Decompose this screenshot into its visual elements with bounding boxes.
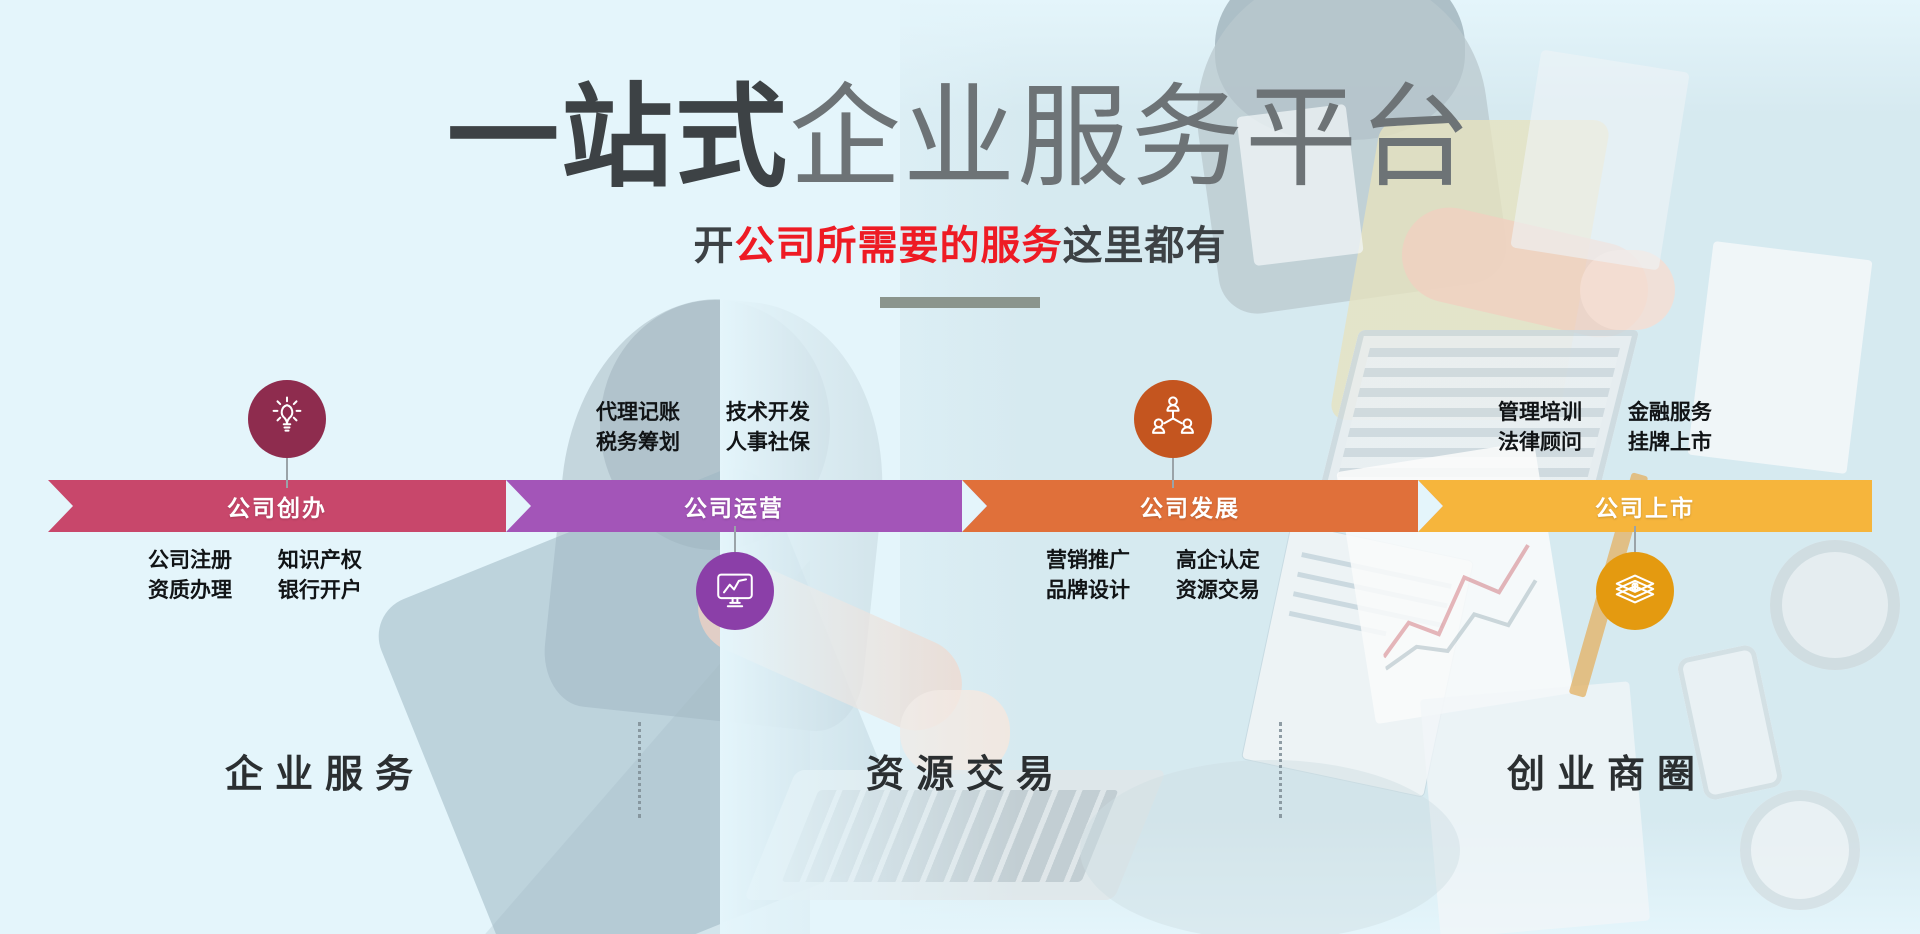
stage-icon-bubble-4[interactable] xyxy=(1596,552,1674,630)
service-label: 金融服务 xyxy=(1628,398,1712,428)
service-column: 公司注册 资质办理 xyxy=(148,546,232,606)
service-label: 营销推广 xyxy=(1046,546,1130,576)
title-bold-part: 一站式 xyxy=(447,75,789,200)
category-resource-trading[interactable]: 资源交易 xyxy=(641,743,1279,798)
service-column: 代理记账 税务筹划 xyxy=(596,398,680,458)
arrow-notch-2 xyxy=(506,480,531,532)
service-label: 知识产权 xyxy=(278,546,362,576)
service-labels-stage-4: 管理培训 法律顾问 金融服务 挂牌上市 xyxy=(1498,398,1712,458)
stem-stage-3 xyxy=(1172,458,1174,488)
stage-segment-4[interactable]: 公司上市 xyxy=(1418,480,1872,532)
lightbulb-icon xyxy=(264,394,310,445)
stage-segment-1[interactable]: 公司创办 xyxy=(48,480,506,532)
service-label: 资质办理 xyxy=(148,576,232,606)
stage-label-4: 公司上市 xyxy=(1595,489,1695,523)
stem-stage-4 xyxy=(1634,526,1636,552)
people-network-icon xyxy=(1150,394,1196,445)
service-column: 金融服务 挂牌上市 xyxy=(1628,398,1712,458)
service-column: 高企认定 资源交易 xyxy=(1176,546,1260,606)
stage-icon-bubble-1[interactable] xyxy=(248,380,326,458)
service-labels-stage-3: 营销推广 品牌设计 高企认定 资源交易 xyxy=(1046,546,1260,606)
category-divider xyxy=(638,722,641,818)
page-title: 一站式企业服务平台 xyxy=(0,78,1920,199)
money-stack-icon xyxy=(1612,566,1658,617)
service-label: 技术开发 xyxy=(726,398,810,428)
stage-icon-bubble-2[interactable] xyxy=(696,552,774,630)
stage-segment-2[interactable]: 公司运营 xyxy=(506,480,962,532)
arrow-notch-4 xyxy=(1418,480,1443,532)
banner-header: 一站式企业服务平台 开公司所需要的服务这里都有 xyxy=(0,0,1920,308)
service-column: 管理培训 法律顾问 xyxy=(1498,398,1582,458)
service-label: 资源交易 xyxy=(1176,576,1260,606)
stem-stage-1 xyxy=(286,458,288,488)
service-column: 营销推广 品牌设计 xyxy=(1046,546,1130,606)
subtitle-suffix: 这里都有 xyxy=(1063,224,1227,268)
service-labels-stage-1: 公司注册 资质办理 知识产权 银行开户 xyxy=(148,546,362,606)
page-subtitle: 开公司所需要的服务这里都有 xyxy=(0,213,1920,271)
service-label: 公司注册 xyxy=(148,546,232,576)
category-divider xyxy=(1279,722,1282,818)
category-startup-circle[interactable]: 创业商圈 xyxy=(1282,743,1920,798)
stage-label-2: 公司运营 xyxy=(684,489,784,523)
service-label: 管理培训 xyxy=(1498,398,1582,428)
subtitle-prefix: 开 xyxy=(694,224,735,268)
category-enterprise-service[interactable]: 企业服务 xyxy=(0,743,638,798)
service-label: 代理记账 xyxy=(596,398,680,428)
monitor-chart-icon xyxy=(712,566,758,617)
service-label: 法律顾问 xyxy=(1498,428,1582,458)
service-label: 银行开户 xyxy=(278,576,362,606)
service-label: 人事社保 xyxy=(726,428,810,458)
stage-segment-3[interactable]: 公司发展 xyxy=(962,480,1418,532)
stem-stage-2 xyxy=(734,526,736,552)
category-row: 企业服务 资源交易 创业商圈 xyxy=(0,700,1920,840)
service-column: 知识产权 银行开户 xyxy=(278,546,362,606)
stage-icon-bubble-3[interactable] xyxy=(1134,380,1212,458)
stage-label-3: 公司发展 xyxy=(1140,489,1240,523)
arrow-notch-3 xyxy=(962,480,987,532)
service-timeline: 公司创办 公司运营 公司发展 公司上市 xyxy=(0,380,1920,680)
title-underline-rule xyxy=(880,297,1040,308)
subtitle-highlight: 公司所需要的服务 xyxy=(735,224,1063,268)
service-label: 挂牌上市 xyxy=(1628,428,1712,458)
stage-arrow-band: 公司创办 公司运营 公司发展 公司上市 xyxy=(48,480,1872,532)
service-column: 技术开发 人事社保 xyxy=(726,398,810,458)
stage-label-1: 公司创办 xyxy=(227,489,327,523)
title-light-part: 企业服务平台 xyxy=(789,75,1473,200)
service-label: 税务筹划 xyxy=(596,428,680,458)
service-labels-stage-2: 代理记账 税务筹划 技术开发 人事社保 xyxy=(596,398,810,458)
service-label: 品牌设计 xyxy=(1046,576,1130,606)
service-label: 高企认定 xyxy=(1176,546,1260,576)
